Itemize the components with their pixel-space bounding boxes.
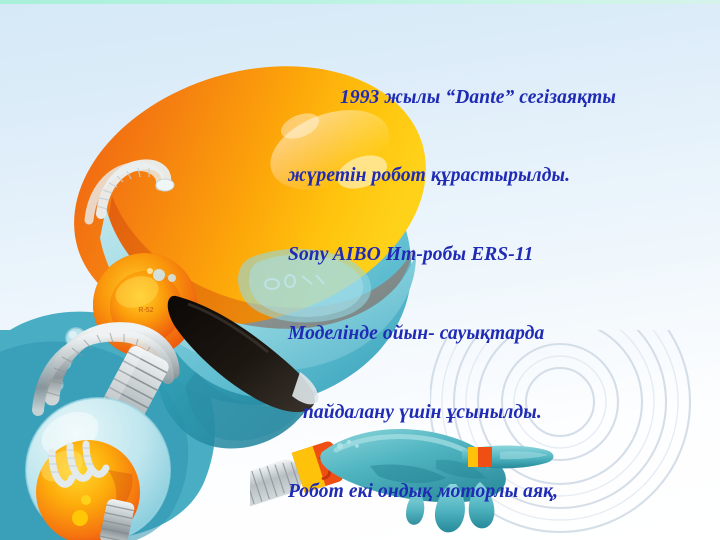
- body-line: Робот екі ондық моторлы аяқ,: [288, 479, 712, 505]
- body-line: Моделінде ойын- сауықтарда: [288, 321, 712, 347]
- body-line: жүретін робот құрастырылды.: [288, 163, 712, 189]
- body-line: 1993 жылы “Dante” сегізаяқты: [288, 85, 712, 111]
- body-line: Sony AIBO Ит-робы ERS-11: [288, 242, 712, 268]
- slide-body-text: 1993 жылы “Dante” сегізаяқты жүретін роб…: [288, 32, 712, 540]
- slide-canvas: R-52: [0, 0, 720, 540]
- svg-text:R-52: R-52: [138, 307, 153, 314]
- body-line: пайдалану үшін ұсынылды.: [288, 400, 712, 426]
- top-accent-strip: [0, 0, 720, 4]
